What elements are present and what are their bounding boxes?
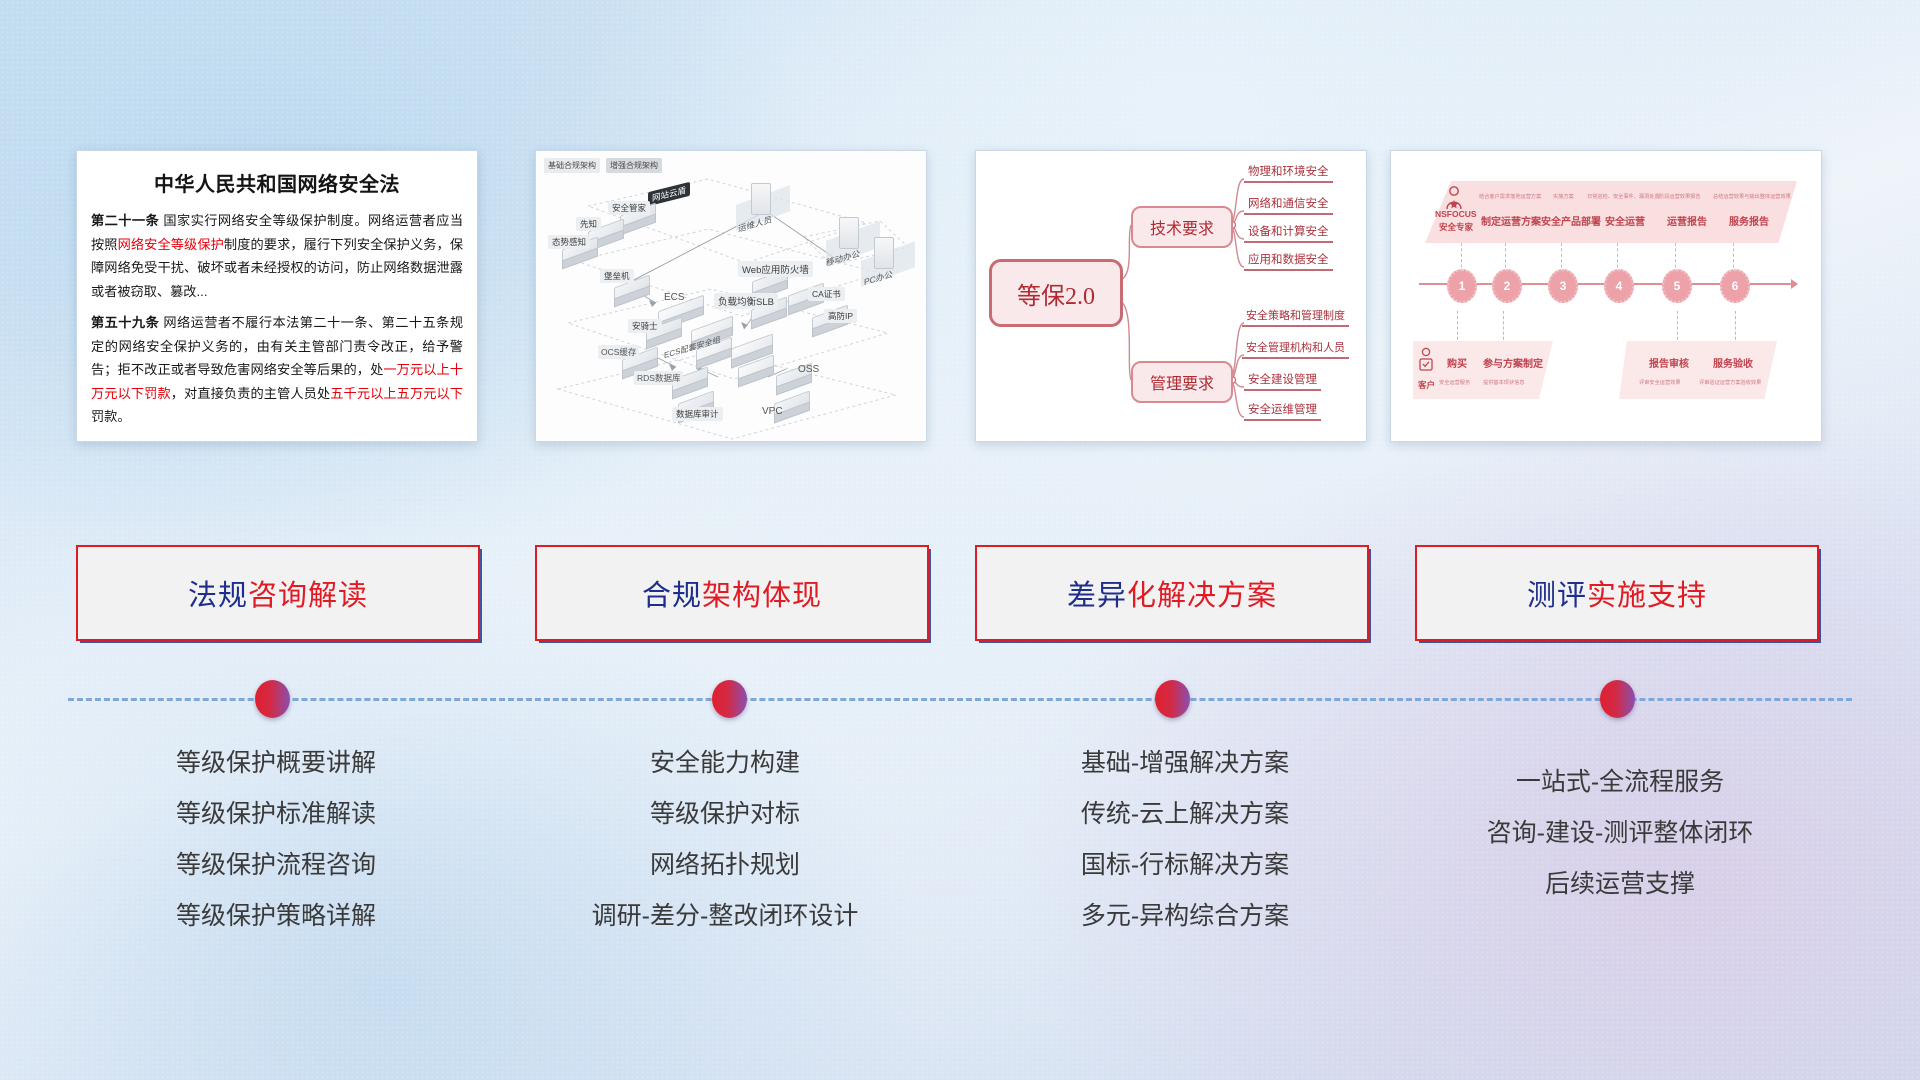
list-item: 传统-云上解决方案 xyxy=(965,789,1405,840)
list-item: 等级保护对标 xyxy=(505,789,945,840)
node-label-xianzhi: 先知 xyxy=(576,217,601,231)
heading-box-assessment-support[interactable]: 测评实施支持 xyxy=(1415,545,1819,641)
node-label-security-butler: 安全管家 xyxy=(608,201,650,215)
list-item: 基础-增强解决方案 xyxy=(965,738,1405,789)
heading-4-red: 实施支持 xyxy=(1587,580,1707,612)
list-item: 等级保护概要讲解 xyxy=(66,738,486,789)
node-label-situational-awareness: 态势感知 xyxy=(548,235,590,249)
heading-1-blue: 法规 xyxy=(188,580,248,612)
law-seg-1-1: 网络安全等级保护 xyxy=(118,237,224,252)
architecture-diagram-card[interactable]: 基础合规架构 增强合规架构 xyxy=(535,150,927,442)
law-seg-2-3: 五千元以上五万元以下 xyxy=(330,386,463,401)
law-paragraph-1: 第二十一条 国家实行网络安全等级保护制度。网络运营者应当按照网络安全等级保护制度… xyxy=(91,209,463,303)
heading-box-regulation-consulting[interactable]: 法规咨询解读 xyxy=(76,545,480,641)
node-label-db-audit: 数据库审计 xyxy=(672,407,723,421)
step5-title: 运营报告 xyxy=(1667,213,1707,228)
mindmap-leaf-mgmt-2[interactable]: 安全建设管理 xyxy=(1244,371,1321,391)
node-label-oss: OSS xyxy=(794,363,823,376)
step-dot-6[interactable]: 6 xyxy=(1720,269,1750,303)
law-article-label-1: 第二十一条 xyxy=(91,213,159,228)
mindmap-leaf-tech-0[interactable]: 物理和环境安全 xyxy=(1244,163,1333,183)
node-icon-ecs-group-4 xyxy=(738,361,772,383)
list-item: 等级保护流程咨询 xyxy=(66,840,486,891)
step-dot-4[interactable]: 4 xyxy=(1604,269,1634,303)
customer-step4-title: 服务验收 xyxy=(1713,355,1753,370)
timeline-marker-3[interactable] xyxy=(1155,680,1190,718)
heading-text-4: 测评实施支持 xyxy=(1527,572,1707,614)
customer-label: 客户 xyxy=(1418,379,1435,391)
list-item: 咨询-建设-测评整体闭环 xyxy=(1410,808,1830,859)
list-item: 网络拓扑规划 xyxy=(505,840,945,891)
customer-step3-title: 报告审核 xyxy=(1649,355,1689,370)
customer-step4-sub: 评审验证运营方案验收效果 xyxy=(1699,379,1761,386)
list-item: 安全能力构建 xyxy=(505,738,945,789)
heading-1-red: 咨询解读 xyxy=(248,580,368,612)
step4-sub: 日常巡检、安全事件、漏洞处置 xyxy=(1587,193,1660,200)
node-label-anti-ddos-ip: 高防IP xyxy=(824,309,857,323)
list-item: 国标-行标解决方案 xyxy=(965,840,1405,891)
architecture-canvas: 基础合规架构 增强合规架构 xyxy=(536,151,926,441)
timeline-marker-2[interactable] xyxy=(712,680,747,718)
node-label-ecs: ECS xyxy=(660,291,689,304)
list-item: 一站式-全流程服务 xyxy=(1410,757,1830,808)
step-dot-3[interactable]: 3 xyxy=(1548,269,1578,303)
mindmap-branch-management[interactable]: 管理要求 xyxy=(1131,361,1233,403)
connector-c3 xyxy=(1677,311,1679,345)
step-dot-1[interactable]: 1 xyxy=(1447,269,1477,303)
heading-3-blue: 差异 xyxy=(1067,580,1127,612)
customer-step3-sub: 评审安全运营效果 xyxy=(1639,379,1681,386)
detail-columns: 等级保护概要讲解 等级保护标准解读 等级保护流程咨询 等级保护策略详解 安全能力… xyxy=(0,738,1920,968)
mindmap-root-node[interactable]: 等保2.0 xyxy=(989,259,1123,327)
nsfocus-canvas: NSFOCUS 安全专家 结合客户需求落地运营方案 制定运营方案 实施方案 安全… xyxy=(1391,151,1821,441)
expert-label-line2: 安全专家 xyxy=(1439,221,1473,233)
detail-column-3: 基础-增强解决方案 传统-云上解决方案 国标-行标解决方案 多元-异构综合方案 xyxy=(965,738,1405,942)
nsfocus-timeline-card[interactable]: NSFOCUS 安全专家 结合客户需求落地运营方案 制定运营方案 实施方案 安全… xyxy=(1390,150,1822,442)
mindmap-leaf-tech-3[interactable]: 应用和数据安全 xyxy=(1244,251,1333,271)
heading-2-red: 架构体现 xyxy=(702,580,822,612)
timeline-row xyxy=(0,680,1920,720)
step3-sub: 实施方案 xyxy=(1553,193,1574,200)
mindmap-leaf-mgmt-3[interactable]: 安全运维管理 xyxy=(1244,401,1321,421)
law-body: 中华人民共和国网络安全法 第二十一条 国家实行网络安全等级保护制度。网络运营者应… xyxy=(77,151,477,441)
list-item: 多元-异构综合方案 xyxy=(965,891,1405,942)
customer-avatar-icon xyxy=(1417,347,1435,377)
heading-box-differentiated-solution[interactable]: 差异化解决方案 xyxy=(975,545,1369,641)
node-label-ca-cert: CA证书 xyxy=(808,287,845,301)
heading-4-blue: 测评 xyxy=(1527,580,1587,612)
law-paragraph-2: 第五十九条 网络运营者不履行本法第二十一条、第二十五条规定的网络安全保护义务的，… xyxy=(91,311,463,429)
customer-step1-title: 购买 xyxy=(1447,355,1467,370)
connector-c2 xyxy=(1503,311,1505,345)
node-icon-pc-office xyxy=(874,237,894,269)
slide-stage: 中华人民共和国网络安全法 第二十一条 国家实行网络安全等级保护制度。网络运营者应… xyxy=(0,0,1920,1080)
law-article-label-2: 第五十九条 xyxy=(91,315,159,330)
heading-row: 法规咨询解读 合规架构体现 差异化解决方案 测评实施支持 xyxy=(0,545,1920,645)
step2-title: 制定运营方案 xyxy=(1481,213,1541,228)
expert-banner xyxy=(1425,181,1797,243)
node-icon-ops-person xyxy=(751,183,771,215)
step6-sub: 总结运营效果与输出整体运营效果 xyxy=(1713,193,1791,200)
list-item: 调研-差分-整改闭环设计 xyxy=(505,891,945,942)
list-item: 等级保护标准解读 xyxy=(66,789,486,840)
image-card-row: 中华人民共和国网络安全法 第二十一条 国家实行网络安全等级保护制度。网络运营者应… xyxy=(0,150,1920,442)
heading-text-3: 差异化解决方案 xyxy=(1067,572,1277,614)
node-icon-bastion-host xyxy=(614,281,648,303)
detail-column-4: 一站式-全流程服务 咨询-建设-测评整体闭环 后续运营支撑 xyxy=(1410,738,1830,910)
node-label-slb: 负载均衡SLB xyxy=(714,293,778,309)
heading-text-2: 合规架构体现 xyxy=(642,572,822,614)
step2-sub: 结合客户需求落地运营方案 xyxy=(1479,193,1541,200)
timeline-arrow-icon xyxy=(1791,279,1798,289)
detail-column-2: 安全能力构建 等级保护对标 网络拓扑规划 调研-差分-整改闭环设计 xyxy=(505,738,945,942)
law-text-card[interactable]: 中华人民共和国网络安全法 第二十一条 国家实行网络安全等级保护制度。网络运营者应… xyxy=(76,150,478,442)
mindmap-canvas: 等保2.0 技术要求 管理要求 物理和环境安全 网络和通信安全 设备和计算安全 … xyxy=(976,151,1366,441)
step4-title: 安全运营 xyxy=(1605,213,1645,228)
timeline-marker-4[interactable] xyxy=(1600,680,1635,718)
mindmap-branch-technical[interactable]: 技术要求 xyxy=(1131,206,1233,248)
step-dot-2[interactable]: 2 xyxy=(1492,269,1522,303)
customer-banner-right xyxy=(1619,341,1777,399)
customer-step2-title: 参与方案制定 xyxy=(1483,355,1543,370)
architecture-nodes: 网站云盾 安全管家 先知 态势感知 运维人员 移动办公 PC办公 xyxy=(536,151,926,441)
step-dot-5[interactable]: 5 xyxy=(1662,269,1692,303)
timeline-dashed-line xyxy=(68,698,1852,701)
node-label-rds: RDS数据库 xyxy=(634,371,683,385)
heading-2-blue: 合规 xyxy=(642,580,702,612)
timeline-marker-1[interactable] xyxy=(255,680,290,718)
list-item: 等级保护策略详解 xyxy=(66,891,486,942)
step6-title: 服务报告 xyxy=(1729,213,1769,228)
customer-step2-sub: 提供基本现状信息 xyxy=(1483,379,1525,386)
mindmap-leaf-mgmt-1[interactable]: 安全管理机构和人员 xyxy=(1242,339,1349,359)
expert-avatar-icon xyxy=(1443,185,1465,211)
node-label-anqishi: 安骑士 xyxy=(628,319,662,333)
node-icon-mobile-office xyxy=(839,217,859,249)
law-title: 中华人民共和国网络安全法 xyxy=(91,168,463,197)
node-label-vpc: VPC xyxy=(758,405,787,418)
law-seg-2-2: ，对直接负责的主管人员处 xyxy=(171,386,330,401)
mindmap-card[interactable]: 等保2.0 技术要求 管理要求 物理和环境安全 网络和通信安全 设备和计算安全 … xyxy=(975,150,1367,442)
mindmap-leaf-mgmt-0[interactable]: 安全策略和管理制度 xyxy=(1242,307,1349,327)
connector-c1 xyxy=(1457,311,1459,345)
mindmap-leaf-tech-1[interactable]: 网络和通信安全 xyxy=(1244,195,1333,215)
node-label-ocs-cache: OCS缓存 xyxy=(598,345,639,359)
node-label-bastion-host: 堡垒机 xyxy=(600,269,634,283)
step3-title: 安全产品部署 xyxy=(1541,213,1601,228)
detail-column-1: 等级保护概要讲解 等级保护标准解读 等级保护流程咨询 等级保护策略详解 xyxy=(66,738,486,942)
customer-step1-sub: 安全运营服务 xyxy=(1439,379,1470,386)
node-label-waf: Web应用防火墙 xyxy=(738,261,813,277)
step5-sub: 阶段运营效果报告 xyxy=(1659,193,1701,200)
heading-text-1: 法规咨询解读 xyxy=(188,572,368,614)
mindmap-leaf-tech-2[interactable]: 设备和计算安全 xyxy=(1244,223,1333,243)
law-seg-2-4: 罚款。 xyxy=(91,409,131,424)
heading-3-red: 化解决方案 xyxy=(1127,580,1277,612)
expert-label-line1: NSFOCUS xyxy=(1435,209,1477,219)
heading-box-compliance-architecture[interactable]: 合规架构体现 xyxy=(535,545,929,641)
list-item: 后续运营支撑 xyxy=(1410,859,1830,910)
connector-c4 xyxy=(1735,311,1737,345)
